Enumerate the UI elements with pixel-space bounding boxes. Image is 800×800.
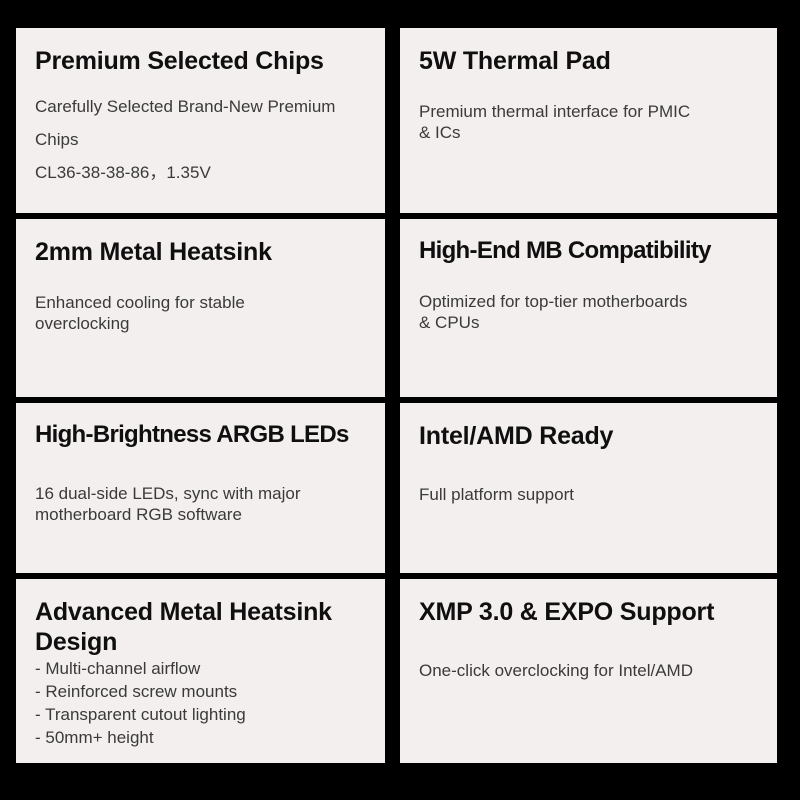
title-body-spacer [419,627,759,660]
feature-card-mb-compatibility: High-End MB Compatibility Optimized for … [400,219,777,397]
card-title: 2mm Metal Heatsink [35,237,367,267]
list-item: - Reinforced screw mounts [35,680,367,703]
feature-card-thermal-pad: 5W Thermal Pad Premium thermal interface… [400,28,777,213]
card-title: Premium Selected Chips [35,46,367,76]
card-body: Carefully Selected Brand-New Premium Chi… [35,90,367,156]
card-body: Optimized for top-tier motherboards & CP… [419,291,759,333]
feature-card-advanced-heatsink-design: Advanced Metal Heatsink Design - Multi-c… [16,579,385,763]
card-spec-line: CL36-38-38-86，1.35V [35,156,367,189]
feature-card-xmp-expo-support: XMP 3.0 & EXPO Support One-click overclo… [400,579,777,763]
title-body-spacer [419,266,759,291]
card-title: High-Brightness ARGB LEDs [35,421,367,450]
card-title: 5W Thermal Pad [419,46,759,76]
card-body: Premium thermal interface for PMIC & ICs [419,101,759,143]
title-body-spacer [419,451,759,484]
card-body: One-click overclocking for Intel/AMD [419,660,759,681]
card-body: Full platform support [419,484,759,505]
card-body: 16 dual-side LEDs, sync with major mothe… [35,483,367,525]
feature-bullet-list: - Multi-channel airflow - Reinforced scr… [35,657,367,749]
feature-card-metal-heatsink: 2mm Metal Heatsink Enhanced cooling for … [16,219,385,397]
feature-grid: Premium Selected Chips Carefully Selecte… [0,0,800,800]
card-title: Intel/AMD Ready [419,421,759,451]
title-body-spacer [35,450,367,483]
title-body-spacer [419,76,759,101]
title-body-spacer [35,267,367,292]
card-title: High-End MB Compatibility [419,237,759,266]
title-body-spacer [35,76,367,90]
card-title: Advanced Metal Heatsink Design [35,597,367,657]
list-item: - Transparent cutout lighting [35,703,367,726]
list-item: - Multi-channel airflow [35,657,367,680]
card-title: XMP 3.0 & EXPO Support [419,597,759,627]
feature-card-argb-leds: High-Brightness ARGB LEDs 16 dual-side L… [16,403,385,573]
feature-card-premium-selected-chips: Premium Selected Chips Carefully Selecte… [16,28,385,213]
card-body: Enhanced cooling for stable overclocking [35,292,367,334]
list-item: - 50mm+ height [35,726,367,749]
feature-card-intel-amd-ready: Intel/AMD Ready Full platform support [400,403,777,573]
